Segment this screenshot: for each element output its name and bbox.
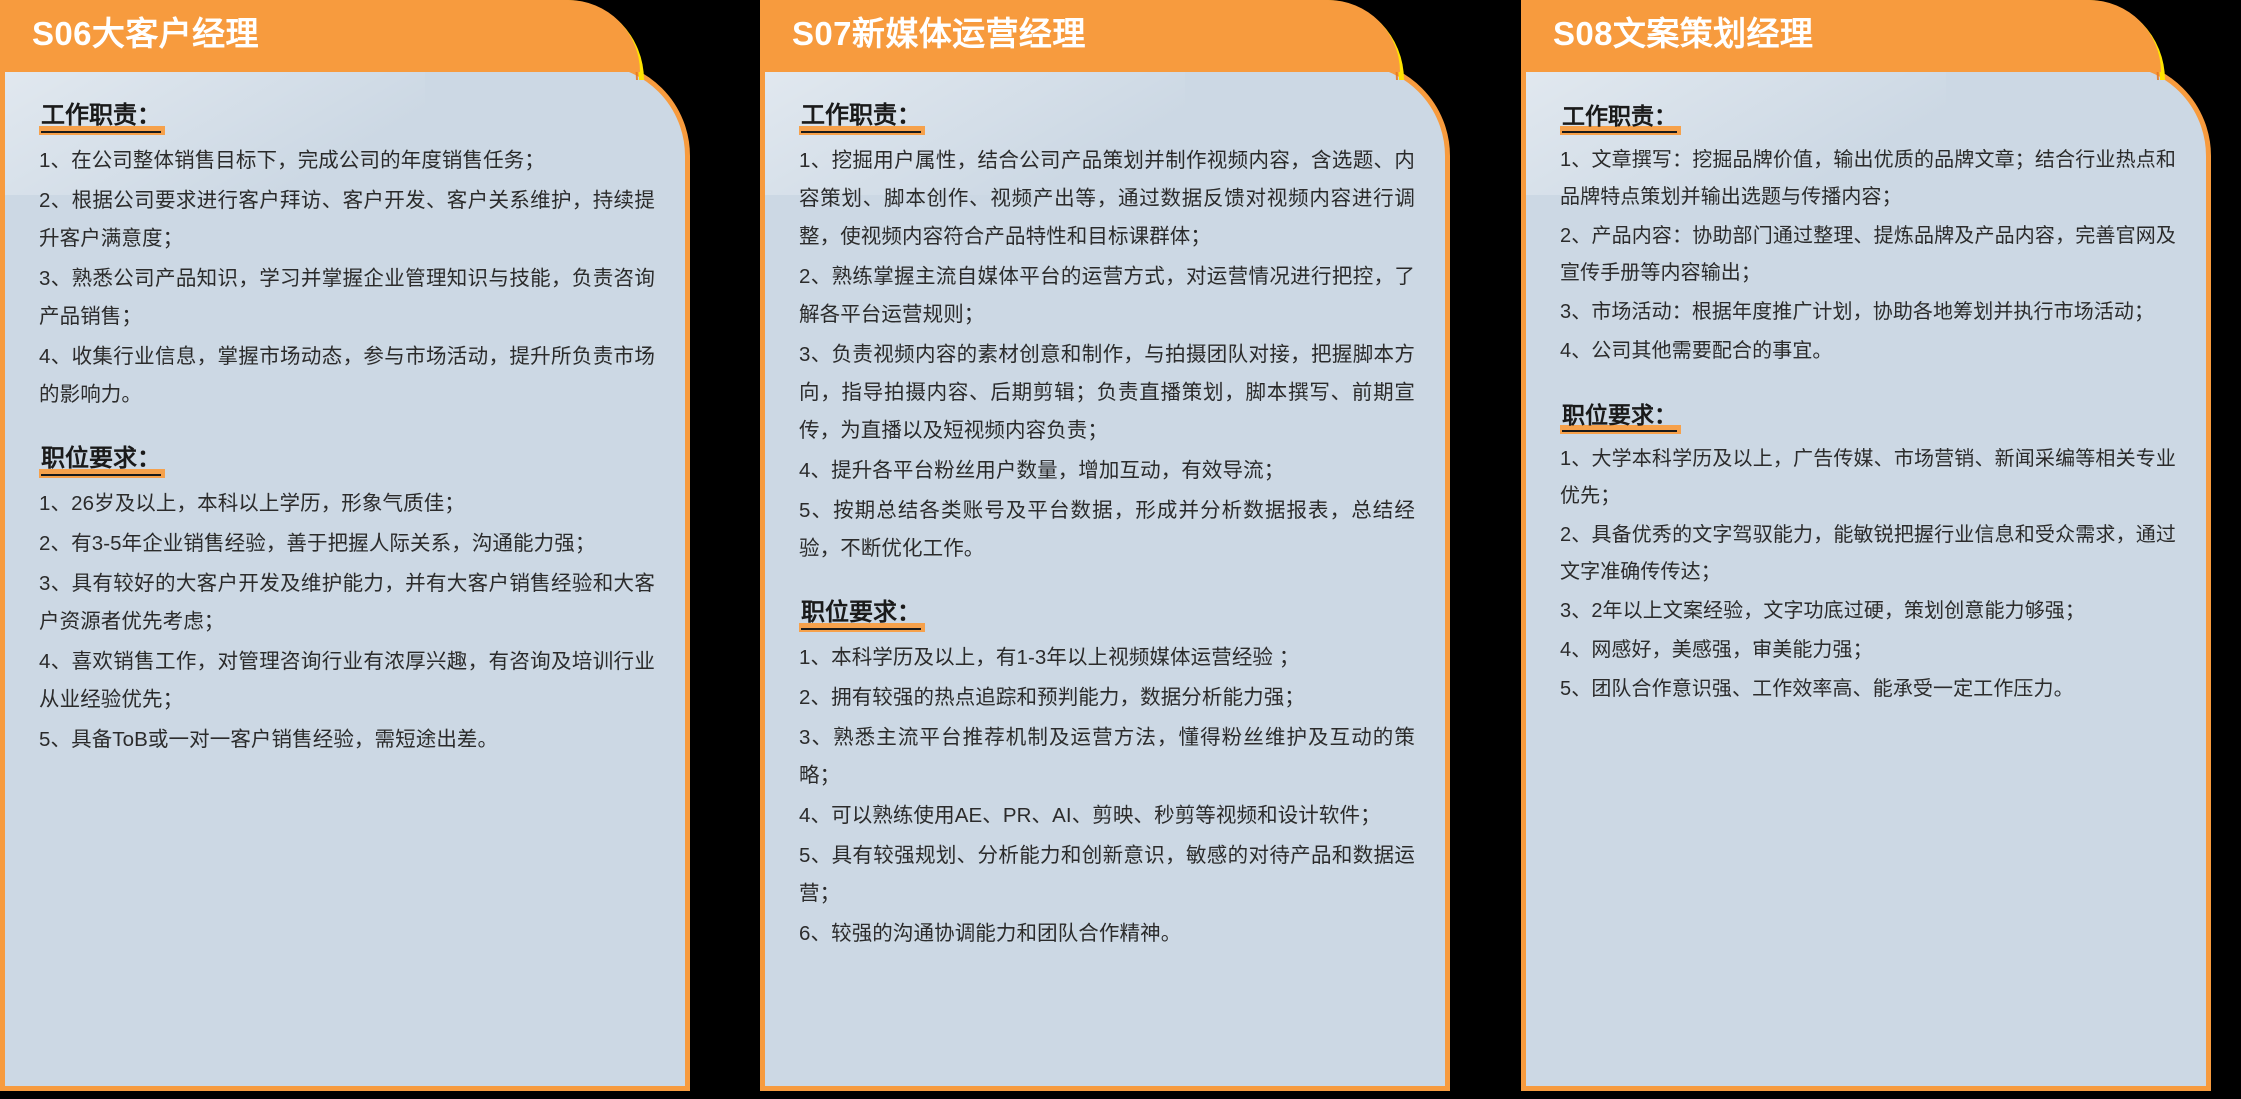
list-item: 6、较强的沟通协调能力和团队合作精神。 — [799, 915, 1415, 953]
section-heading-label: 职位要求： — [1562, 402, 1677, 432]
job-card-s08: 工作职责： 1、文章撰写：挖掘品牌价值，输出优质的品牌文章；结合行业热点和品牌特… — [1521, 0, 2221, 1099]
list-item: 2、具备优秀的文字驾驭能力，能敏锐把握行业信息和受众需求，通过文字准确传传达； — [1560, 517, 2176, 591]
list-item: 3、2年以上文案经验，文字功底过硬，策划创意能力够强； — [1560, 593, 2176, 630]
section-heading-label: 工作职责： — [801, 102, 921, 133]
list-item: 2、熟练掌握主流自媒体平台的运营方式，对运营情况进行把控，了解各平台运营规则； — [799, 258, 1415, 334]
card-header-banner: S07新媒体运营经理 — [760, 0, 1400, 72]
card-content: 工作职责： 1、文章撰写：挖掘品牌价值，输出优质的品牌文章；结合行业热点和品牌特… — [1526, 65, 2206, 1086]
list-item: 2、有3-5年企业销售经验，善于把握人际关系，沟通能力强； — [39, 525, 655, 563]
job-card-s06: 工作职责： 1、在公司整体销售目标下，完成公司的年度销售任务； 2、根据公司要求… — [0, 0, 700, 1099]
responsibility-list: 1、在公司整体销售目标下，完成公司的年度销售任务； 2、根据公司要求进行客户拜访… — [39, 142, 655, 414]
card-title: S07新媒体运营经理 — [792, 11, 1086, 56]
list-item: 5、具有较强规划、分析能力和创新意识，敏感的对待产品和数据运营； — [799, 837, 1415, 913]
list-item: 5、具备ToB或一对一客户销售经验，需短途出差。 — [39, 721, 655, 759]
card-header-banner: S08文案策划经理 — [1521, 0, 2161, 72]
list-item: 2、产品内容：协助部门通过整理、提炼品牌及产品内容，完善官网及宣传手册等内容输出… — [1560, 218, 2176, 292]
list-item: 1、本科学历及以上，有1-3年以上视频媒体运营经验 ； — [799, 639, 1415, 677]
card-content: 工作职责： 1、挖掘用户属性，结合公司产品策划并制作视频内容，含选题、内容策划、… — [765, 65, 1445, 1086]
section-heading-requirements: 职位要求： — [799, 598, 925, 629]
list-item: 4、网感好，美感强，审美能力强； — [1560, 632, 2176, 669]
list-item: 4、可以熟练使用AE、PR、AI、剪映、秒剪等视频和设计软件； — [799, 797, 1415, 835]
list-item: 4、喜欢销售工作，对管理咨询行业有浓厚兴趣，有咨询及培训行业从业经验优先； — [39, 643, 655, 719]
job-cards-board: 工作职责： 1、在公司整体销售目标下，完成公司的年度销售任务； 2、根据公司要求… — [0, 0, 2241, 1099]
list-item: 2、根据公司要求进行客户拜访、客户开发、客户关系维护，持续提升客户满意度； — [39, 182, 655, 258]
responsibility-list: 1、文章撰写：挖掘品牌价值，输出优质的品牌文章；结合行业热点和品牌特点策划并输出… — [1560, 142, 2176, 370]
section-heading-label: 职位要求： — [41, 445, 161, 476]
section-requirements: 职位要求： 1、26岁及以上，本科以上学历，形象气质佳； 2、有3-5年企业销售… — [39, 444, 655, 759]
section-responsibilities: 工作职责： 1、挖掘用户属性，结合公司产品策划并制作视频内容，含选题、内容策划、… — [799, 101, 1415, 568]
list-item: 1、挖掘用户属性，结合公司产品策划并制作视频内容，含选题、内容策划、脚本创作、视… — [799, 142, 1415, 256]
list-item: 5、按期总结各类账号及平台数据，形成并分析数据报表，总结经验，不断优化工作。 — [799, 492, 1415, 568]
section-responsibilities: 工作职责： 1、文章撰写：挖掘品牌价值，输出优质的品牌文章；结合行业热点和品牌特… — [1560, 101, 2176, 370]
requirement-list: 1、大学本科学历及以上，广告传媒、市场营销、新闻采编等相关专业优先； 2、具备优… — [1560, 441, 2176, 708]
section-heading-label: 工作职责： — [41, 102, 161, 133]
section-heading-responsibilities: 工作职责： — [799, 101, 925, 132]
list-item: 4、公司其他需要配合的事宜。 — [1560, 333, 2176, 370]
card-header-banner: S06大客户经理 — [0, 0, 640, 72]
list-item: 4、提升各平台粉丝用户数量，增加互动，有效导流； — [799, 452, 1415, 490]
card-title: S06大客户经理 — [32, 11, 259, 56]
requirement-list: 1、本科学历及以上，有1-3年以上视频媒体运营经验 ； 2、拥有较强的热点追踪和… — [799, 639, 1415, 953]
list-item: 1、大学本科学历及以上，广告传媒、市场营销、新闻采编等相关专业优先； — [1560, 441, 2176, 515]
section-heading-label: 职位要求： — [801, 599, 921, 630]
list-item: 1、文章撰写：挖掘品牌价值，输出优质的品牌文章；结合行业热点和品牌特点策划并输出… — [1560, 142, 2176, 216]
section-heading-label: 工作职责： — [1562, 103, 1677, 133]
list-item: 1、26岁及以上，本科以上学历，形象气质佳； — [39, 485, 655, 523]
section-heading-requirements: 职位要求： — [1560, 400, 1681, 431]
list-item: 5、团队合作意识强、工作效率高、能承受一定工作压力。 — [1560, 671, 2176, 708]
job-card-s07: 工作职责： 1、挖掘用户属性，结合公司产品策划并制作视频内容，含选题、内容策划、… — [760, 0, 1460, 1099]
section-heading-responsibilities: 工作职责： — [1560, 101, 1681, 132]
list-item: 2、拥有较强的热点追踪和预判能力，数据分析能力强； — [799, 679, 1415, 717]
card-body-panel: 工作职责： 1、在公司整体销售目标下，完成公司的年度销售任务； 2、根据公司要求… — [0, 60, 690, 1091]
list-item: 3、负责视频内容的素材创意和制作，与拍摄团队对接，把握脚本方向，指导拍摄内容、后… — [799, 336, 1415, 450]
card-body-panel: 工作职责： 1、文章撰写：挖掘品牌价值，输出优质的品牌文章；结合行业热点和品牌特… — [1521, 60, 2211, 1091]
requirement-list: 1、26岁及以上，本科以上学历，形象气质佳； 2、有3-5年企业销售经验，善于把… — [39, 485, 655, 759]
list-item: 4、收集行业信息，掌握市场动态，参与市场活动，提升所负责市场的影响力。 — [39, 338, 655, 414]
list-item: 3、熟悉公司产品知识，学习并掌握企业管理知识与技能，负责咨询产品销售； — [39, 260, 655, 336]
section-heading-responsibilities: 工作职责： — [39, 101, 165, 132]
list-item: 3、熟悉主流平台推荐机制及运营方法，懂得粉丝维护及互动的策略； — [799, 719, 1415, 795]
card-content: 工作职责： 1、在公司整体销售目标下，完成公司的年度销售任务； 2、根据公司要求… — [5, 65, 685, 1086]
card-title: S08文案策划经理 — [1553, 11, 1813, 56]
list-item: 1、在公司整体销售目标下，完成公司的年度销售任务； — [39, 142, 655, 180]
section-requirements: 职位要求： 1、本科学历及以上，有1-3年以上视频媒体运营经验 ； 2、拥有较强… — [799, 598, 1415, 953]
list-item: 3、市场活动：根据年度推广计划，协助各地筹划并执行市场活动； — [1560, 294, 2176, 331]
section-heading-requirements: 职位要求： — [39, 444, 165, 475]
responsibility-list: 1、挖掘用户属性，结合公司产品策划并制作视频内容，含选题、内容策划、脚本创作、视… — [799, 142, 1415, 568]
section-responsibilities: 工作职责： 1、在公司整体销售目标下，完成公司的年度销售任务； 2、根据公司要求… — [39, 101, 655, 414]
section-requirements: 职位要求： 1、大学本科学历及以上，广告传媒、市场营销、新闻采编等相关专业优先；… — [1560, 400, 2176, 708]
list-item: 3、具有较好的大客户开发及维护能力，并有大客户销售经验和大客户资源者优先考虑； — [39, 565, 655, 641]
card-body-panel: 工作职责： 1、挖掘用户属性，结合公司产品策划并制作视频内容，含选题、内容策划、… — [760, 60, 1450, 1091]
